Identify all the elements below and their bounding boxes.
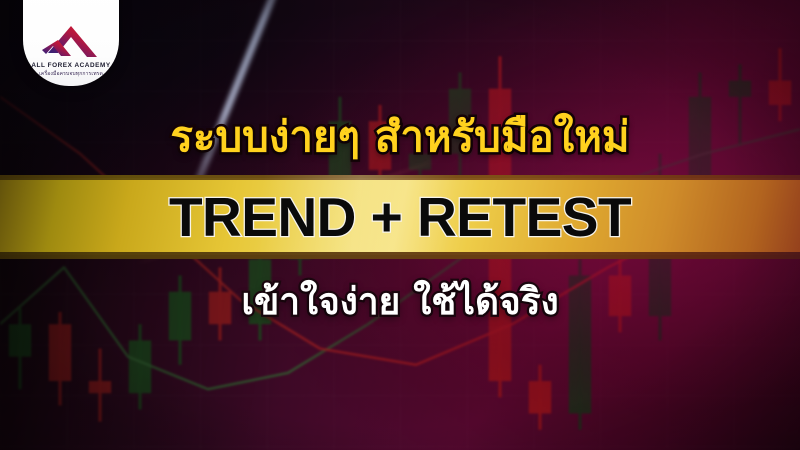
promo-banner-canvas: ALL FOREX ACADEMY เครื่องมือครบจบทุกการเ… xyxy=(0,0,800,450)
banner-bottom-edge xyxy=(0,252,800,259)
brand-tagline: เครื่องมือครบจบทุกการเทรด xyxy=(39,72,103,77)
headline-text: ระบบง่ายๆ สำหรับมือใหม่ xyxy=(0,116,800,158)
subheadline-text: เข้าใจง่าย ใช้ได้จริง xyxy=(0,283,800,320)
brand-logo-badge: ALL FOREX ACADEMY เครื่องมือครบจบทุกการเ… xyxy=(23,0,119,86)
banner-title-text: TREND + RETEST xyxy=(0,182,800,252)
brand-name: ALL FOREX ACADEMY xyxy=(31,63,110,69)
double-chevron-logo-icon xyxy=(41,25,101,59)
